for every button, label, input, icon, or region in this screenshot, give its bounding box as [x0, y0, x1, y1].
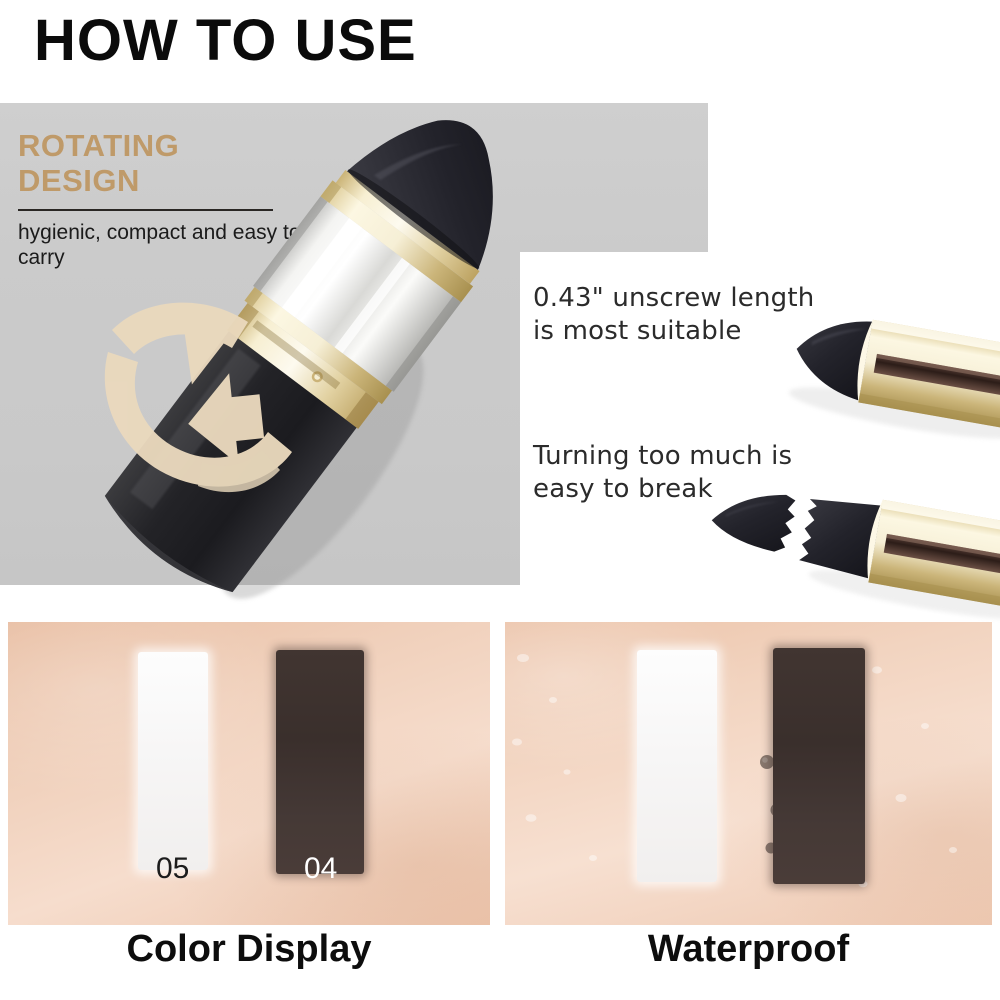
note-1-line-1: 0.43" unscrew length — [533, 282, 814, 315]
feature-subtitle: hygienic, compact and easy to carry — [18, 220, 318, 271]
swatch-dark-waterproof — [773, 648, 865, 884]
note-2-line-1: Turning too much is — [533, 440, 792, 473]
rotating-design-caption: ROTATING DESIGN hygienic, compact and ea… — [18, 128, 318, 271]
feature-title-line-1: ROTATING — [18, 128, 318, 163]
caption-waterproof: Waterproof — [505, 928, 992, 971]
waterproof-panel — [505, 622, 992, 925]
caption-color-display: Color Display — [8, 928, 490, 971]
feature-title: ROTATING DESIGN — [18, 128, 318, 199]
swatch-label-04: 04 — [304, 854, 337, 884]
swatch-label-05: 05 — [156, 854, 189, 884]
swatch-shade-05 — [138, 652, 208, 870]
skin-background — [8, 622, 490, 925]
note-1-line-2: is most suitable — [533, 315, 814, 348]
page-title: HOW TO USE — [34, 12, 417, 70]
infographic-page: HOW TO USE ROTATING DESIGN hygienic, com… — [0, 0, 1000, 1000]
swatch-white-waterproof — [637, 650, 717, 882]
notes-card: 0.43" unscrew length is most suitable Tu… — [520, 252, 1000, 585]
note-2-line-2: easy to break — [533, 473, 792, 506]
gray-stage-main — [0, 252, 520, 585]
note-unscrew-length: 0.43" unscrew length is most suitable — [533, 282, 814, 348]
divider-rule — [18, 209, 273, 211]
water-droplets-icon — [505, 622, 992, 925]
color-display-panel: 05 04 — [8, 622, 490, 925]
feature-title-line-2: DESIGN — [18, 163, 318, 198]
swatch-shade-04 — [276, 650, 364, 874]
note-turning-break: Turning too much is easy to break — [533, 440, 792, 506]
